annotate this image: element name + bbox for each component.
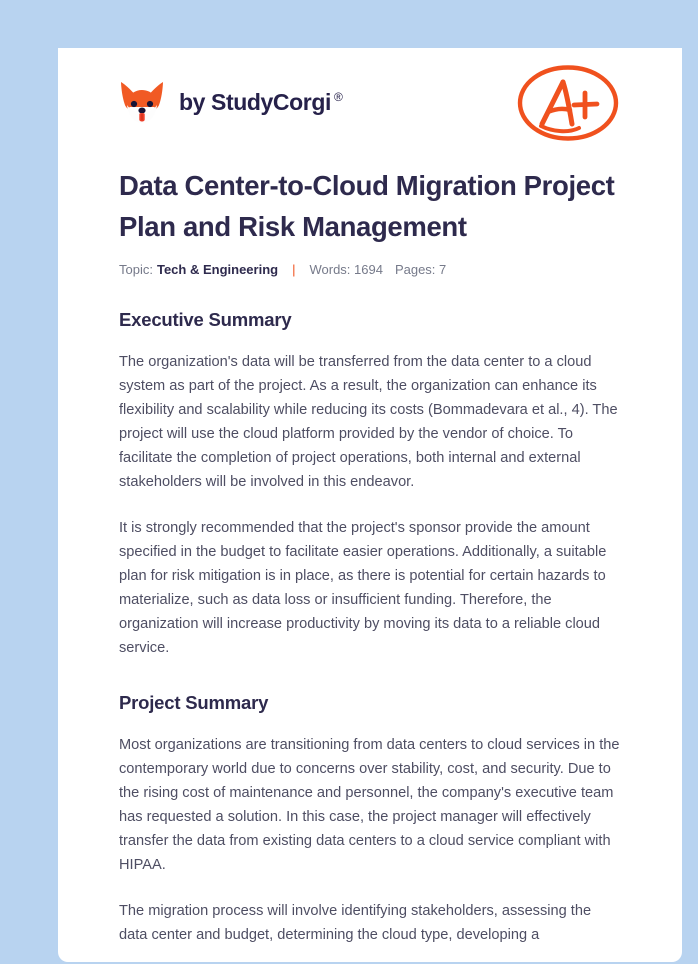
brand-wordmark: by StudyCorgi® [179,89,342,116]
studycorgi-brand-lockup[interactable]: by StudyCorgi® [119,79,342,127]
brand-name: StudyCorgi [211,89,331,115]
document-page-sheet: by StudyCorgi® Data Center-to-Cloud Migr… [58,48,682,962]
document-header: by StudyCorgi® [119,48,621,153]
paragraph: It is strongly recommended that the proj… [119,516,621,660]
meta-words-count: Words: 1694 [309,262,382,277]
a-plus-grade-icon [515,60,621,146]
meta-separator: | [292,262,295,277]
meta-pages-count: Pages: 7 [395,262,446,277]
paragraph: Most organizations are transitioning fro… [119,733,621,877]
corgi-face-icon [119,79,165,127]
page-title: Data Center-to-Cloud Migration Project P… [119,165,621,247]
paragraph: The migration process will involve ident… [119,899,621,947]
meta-topic-value[interactable]: Tech & Engineering [157,262,278,277]
document-meta-row: Topic: Tech & Engineering | Words: 1694 … [119,262,621,277]
paragraph: The organization's data will be transfer… [119,350,621,494]
brand-prefix: by [179,89,211,115]
meta-topic-label: Topic: [119,262,153,277]
section-heading-executive-summary: Executive Summary [119,309,621,331]
registered-trademark-icon: ® [334,90,342,104]
section-heading-project-summary: Project Summary [119,692,621,714]
